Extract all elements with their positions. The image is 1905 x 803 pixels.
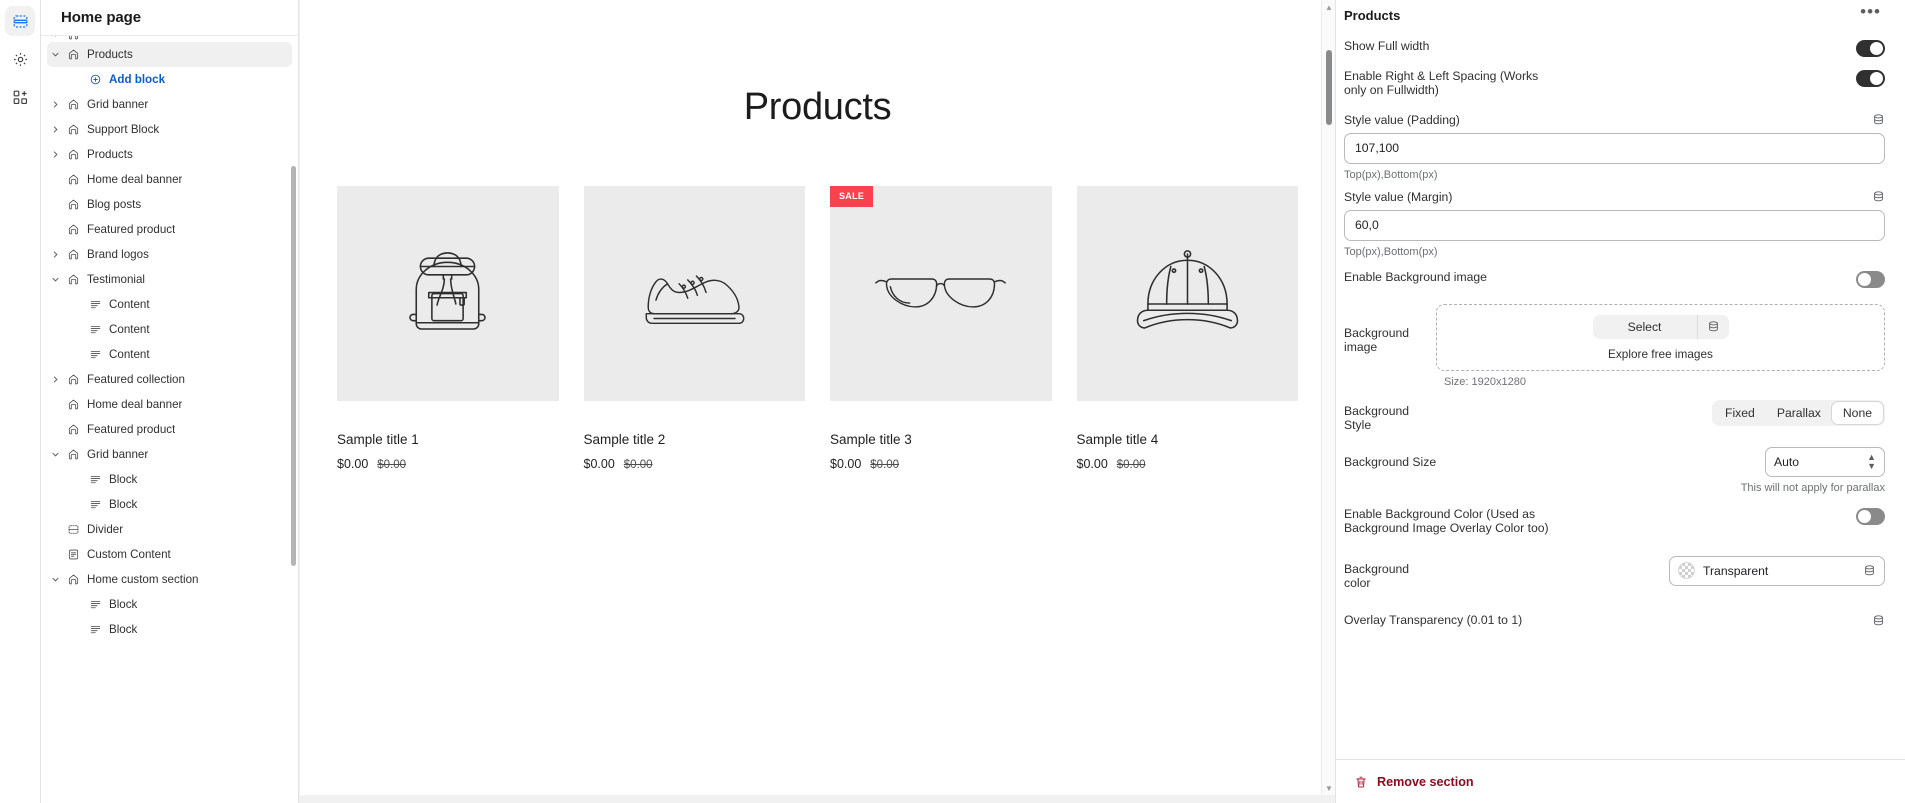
icon-rail (0, 0, 41, 803)
chevron-right-icon[interactable] (47, 92, 63, 117)
dynamic-source-icon[interactable] (1872, 113, 1885, 126)
sidebar-item-label: Grid banner (83, 98, 148, 111)
background-style-segmented[interactable]: FixedParallaxNone (1712, 400, 1885, 426)
setting-enable-bg-image: Enable Background image (1344, 258, 1885, 294)
setting-padding: Style value (Padding) Top(px),Bottom(px) (1344, 104, 1885, 181)
text-lines-icon (85, 473, 105, 486)
glasses-illustration (873, 229, 1008, 359)
plus-circle-icon (85, 73, 105, 86)
remove-section-button[interactable]: Remove section (1377, 775, 1474, 789)
page-title: Home page (61, 9, 141, 26)
background-color-picker[interactable]: Transparent (1669, 556, 1885, 586)
sidebar-item-testimonial[interactable]: Testimonial (47, 267, 292, 292)
sidebar-item-label: Home custom section (83, 573, 198, 586)
sidebar-item-label: Block (105, 598, 137, 611)
sale-badge: SALE (830, 186, 873, 207)
sidebar-item-content[interactable]: Content (47, 317, 292, 342)
product-image[interactable]: SALE (830, 186, 1052, 401)
text-lines-icon (85, 298, 105, 311)
background-image-size-note: Size: 1920x1280 (1344, 376, 1885, 388)
sidebar-item-block[interactable]: Block (47, 492, 292, 517)
gear-icon[interactable] (5, 44, 35, 74)
chevron-updown-icon: ▲▼ (1867, 453, 1876, 471)
dynamic-source-icon[interactable] (1863, 564, 1876, 577)
sidebar-item-label: Add block (105, 73, 165, 86)
setting-margin: Style value (Margin) Top(px),Bottom(px) (1344, 181, 1885, 258)
sidebar-item-label: Block (105, 473, 137, 486)
show-full-width-toggle[interactable] (1856, 40, 1885, 57)
product-card[interactable]: Sample title 2$0.00$0.00 (584, 186, 806, 471)
product-prices: $0.00$0.00 (830, 457, 1052, 471)
background-size-select[interactable]: Auto ▲▼ (1765, 447, 1885, 477)
background-color-value: Transparent (1703, 564, 1855, 578)
chevron-right-icon[interactable] (47, 242, 63, 267)
chevron-down-icon[interactable] (47, 42, 63, 67)
background-style-option-fixed[interactable]: Fixed (1714, 402, 1766, 424)
house-icon (63, 398, 83, 411)
right-left-spacing-label: Enable Right & Left Spacing (Works only … (1344, 69, 1549, 98)
house-icon (63, 48, 83, 61)
sidebar-item-grid-banner[interactable]: Grid banner (47, 442, 292, 467)
product-image[interactable] (584, 186, 806, 401)
setting-right-left-spacing: Enable Right & Left Spacing (Works only … (1344, 63, 1885, 104)
sidebar-item-label: Support Block (83, 123, 159, 136)
sidebar-item-label: Grid banner (83, 448, 148, 461)
sections-sidebar: Home page ProductsAdd blockGrid bannerSu… (41, 0, 299, 803)
enable-bg-color-label: Enable Background Color (Used as Backgro… (1344, 507, 1549, 536)
text-lines-icon (85, 348, 105, 361)
background-image-label: Background image (1344, 304, 1436, 355)
chevron-down-icon[interactable] (47, 442, 63, 467)
sidebar-item-products[interactable]: Products (47, 42, 292, 67)
panel-header: Products ••• (1344, 0, 1885, 33)
setting-background-image: Background image Select Explore free ima… (1344, 294, 1885, 371)
storefront-preview[interactable]: Products Sample title 1$0.00$0.00Sample … (300, 0, 1335, 795)
sidebar-item-label: Block (105, 498, 137, 511)
product-price: $0.00 (337, 457, 368, 471)
house-icon (63, 448, 83, 461)
house-icon (63, 248, 83, 261)
sidebar-item-label: Products (83, 48, 133, 61)
preview-scrollbar[interactable]: ▲ ▼ (1321, 0, 1335, 795)
product-compare-price: $0.00 (377, 459, 406, 471)
sidebar-item-home-deal-banner[interactable]: Home deal banner (47, 392, 292, 417)
scroll-up-arrow[interactable]: ▲ (1322, 0, 1335, 14)
show-full-width-label: Show Full width (1344, 39, 1429, 53)
text-lines-icon (85, 498, 105, 511)
setting-background-size: Background Size Auto ▲▼ (1344, 433, 1885, 477)
text-lines-icon (85, 623, 105, 636)
product-image[interactable] (1077, 186, 1299, 401)
enable-bg-image-toggle[interactable] (1856, 271, 1885, 288)
sidebar-item-content[interactable]: Content (47, 292, 292, 317)
product-prices: $0.00$0.00 (337, 457, 559, 471)
padding-helper: Top(px),Bottom(px) (1344, 169, 1885, 181)
sidebar-item-label: Custom Content (83, 548, 171, 561)
backpack-illustration (385, 229, 510, 359)
sidebar-item-label: Content (105, 298, 150, 311)
sidebar-item-add-block[interactable]: Add block (47, 67, 292, 92)
sidebar-header: Home page (41, 0, 298, 36)
select-image-button[interactable]: Select (1593, 315, 1697, 339)
product-compare-price: $0.00 (1117, 459, 1146, 471)
explore-free-images-link[interactable]: Explore free images (1608, 347, 1713, 361)
margin-helper: Top(px),Bottom(px) (1344, 246, 1885, 258)
house-icon (63, 123, 83, 136)
house-icon (63, 373, 83, 386)
chevron-right-icon[interactable] (47, 367, 63, 392)
panel-footer: Remove section (1336, 759, 1905, 803)
sidebar-item-label: Featured collection (83, 373, 185, 386)
dynamic-source-icon[interactable] (1872, 614, 1885, 627)
sidebar-item-label: Testimonial (83, 273, 145, 286)
setting-background-style: Background Style FixedParallaxNone (1344, 388, 1885, 433)
house-icon (63, 573, 83, 586)
sidebar-item-label: Featured product (83, 223, 175, 236)
enable-bg-image-label: Enable Background image (1344, 270, 1487, 284)
theme-editor: Home page ProductsAdd blockGrid bannerSu… (0, 0, 1905, 803)
padding-input[interactable] (1344, 133, 1885, 164)
house-icon (63, 148, 83, 161)
apps-add-icon[interactable] (5, 82, 35, 112)
margin-label: Style value (Margin) (1344, 190, 1452, 204)
product-card[interactable]: Sample title 4$0.00$0.00 (1077, 186, 1299, 471)
margin-input[interactable] (1344, 210, 1885, 241)
background-style-label: Background Style (1344, 400, 1436, 433)
section-tree[interactable]: ProductsAdd blockGrid bannerSupport Bloc… (41, 36, 298, 803)
background-size-label: Background Size (1344, 455, 1436, 469)
product-compare-price: $0.00 (870, 459, 899, 471)
sidebar-item-block[interactable]: Block (47, 617, 292, 642)
settings-panel: Products ••• Show Full width Enable Righ… (1335, 0, 1905, 803)
product-price: $0.00 (584, 457, 615, 471)
house-icon (63, 223, 83, 236)
product-grid: Sample title 1$0.00$0.00Sample title 2$0… (300, 129, 1335, 471)
trash-icon[interactable] (1354, 775, 1368, 789)
sidebar-item-content[interactable]: Content (47, 342, 292, 367)
background-size-note: This will not apply for parallax (1344, 482, 1885, 494)
house-icon (63, 173, 83, 186)
chevron-right-icon[interactable] (47, 142, 63, 167)
dynamic-source-icon[interactable] (1698, 315, 1729, 339)
sidebar-item-support-block[interactable]: Support Block (47, 117, 292, 142)
product-compare-price: $0.00 (624, 459, 653, 471)
product-prices: $0.00$0.00 (1077, 457, 1299, 471)
chevron-down-icon[interactable] (47, 567, 63, 592)
sidebar-item-featured-product[interactable]: Featured product (47, 417, 292, 442)
product-price: $0.00 (1077, 457, 1108, 471)
sidebar-item-label: Home deal banner (83, 398, 182, 411)
sidebar-item-label: Featured product (83, 423, 175, 436)
sections-icon[interactable] (5, 6, 35, 36)
text-lines-icon (85, 323, 105, 336)
product-card[interactable]: SALESample title 3$0.00$0.00 (830, 186, 1052, 471)
sidebar-item-label: Block (105, 623, 137, 636)
right-left-spacing-toggle[interactable] (1856, 70, 1885, 87)
sneaker-illustration (627, 229, 762, 359)
background-style-option-parallax[interactable]: Parallax (1766, 402, 1832, 424)
preview-scrollbar-thumb[interactable] (1326, 50, 1332, 125)
color-swatch-icon (1678, 562, 1695, 579)
house-icon (63, 98, 83, 111)
preview-area: Products Sample title 1$0.00$0.00Sample … (299, 0, 1335, 803)
sidebar-item-products[interactable]: Products (47, 142, 292, 167)
background-color-label: Background color (1344, 556, 1436, 591)
product-card[interactable]: Sample title 1$0.00$0.00 (337, 186, 559, 471)
text-lines-icon (85, 598, 105, 611)
sidebar-scrollbar-thumb[interactable] (291, 166, 296, 566)
sidebar-item-block[interactable]: Block (47, 592, 292, 617)
background-style-option-none[interactable]: None (1832, 402, 1883, 424)
sidebar-item-label: Brand logos (83, 248, 149, 261)
select-image-control[interactable]: Select (1593, 315, 1729, 339)
sidebar-item-featured-collection[interactable]: Featured collection (47, 367, 292, 392)
setting-background-color: Background color Transparent (1344, 542, 1885, 591)
sidebar-item-label: Content (105, 323, 150, 336)
product-title[interactable]: Sample title 1 (337, 432, 559, 447)
setting-overlay-transparency: Overlay Transparency (0.01 to 1) (1344, 591, 1885, 627)
dynamic-source-icon[interactable] (1872, 190, 1885, 203)
chevron-down-icon[interactable] (47, 267, 63, 292)
background-size-value: Auto (1774, 455, 1867, 469)
sidebar-item-divider[interactable]: Divider (47, 517, 292, 542)
sidebar-item-grid-banner[interactable]: Grid banner (47, 92, 292, 117)
sidebar-item-featured-product[interactable]: Featured product (47, 217, 292, 242)
product-image[interactable] (337, 186, 559, 401)
sidebar-item-label: Products (83, 148, 133, 161)
sidebar-item-label: Home deal banner (83, 173, 182, 186)
product-price: $0.00 (830, 457, 861, 471)
sidebar-item-custom-content[interactable]: Custom Content (47, 542, 292, 567)
divider-icon (63, 523, 83, 536)
sidebar-item-home-deal-banner[interactable]: Home deal banner (47, 167, 292, 192)
sidebar-item-label: Blog posts (83, 198, 141, 211)
background-image-dropzone[interactable]: Select Explore free images (1436, 304, 1885, 371)
sidebar-item-block[interactable]: Block (47, 467, 292, 492)
product-prices: $0.00$0.00 (584, 457, 806, 471)
setting-enable-bg-color: Enable Background Color (Used as Backgro… (1344, 494, 1885, 542)
panel-title: Products (1344, 8, 1400, 23)
house-icon (63, 273, 83, 286)
house-icon (63, 198, 83, 211)
product-title[interactable]: Sample title 4 (1077, 432, 1299, 447)
document-icon (63, 548, 83, 561)
product-title[interactable]: Sample title 2 (584, 432, 806, 447)
cap-illustration (1125, 229, 1250, 359)
house-icon (63, 423, 83, 436)
sidebar-item-brand-logos[interactable]: Brand logos (47, 242, 292, 267)
sidebar-item-home-custom-section[interactable]: Home custom section (47, 567, 292, 592)
product-title[interactable]: Sample title 3 (830, 432, 1052, 447)
sidebar-item-label: Divider (83, 523, 123, 536)
chevron-right-icon[interactable] (47, 117, 63, 142)
enable-bg-color-toggle[interactable] (1856, 508, 1885, 525)
section-heading: Products (300, 0, 1335, 129)
padding-label: Style value (Padding) (1344, 113, 1460, 127)
scroll-down-arrow[interactable]: ▼ (1322, 781, 1335, 795)
overlay-transparency-label: Overlay Transparency (0.01 to 1) (1344, 613, 1522, 627)
sidebar-item-blog-posts[interactable]: Blog posts (47, 192, 292, 217)
setting-show-full-width: Show Full width (1344, 33, 1885, 63)
sidebar-item-label: Content (105, 348, 150, 361)
more-options-icon[interactable]: ••• (1860, 7, 1881, 23)
